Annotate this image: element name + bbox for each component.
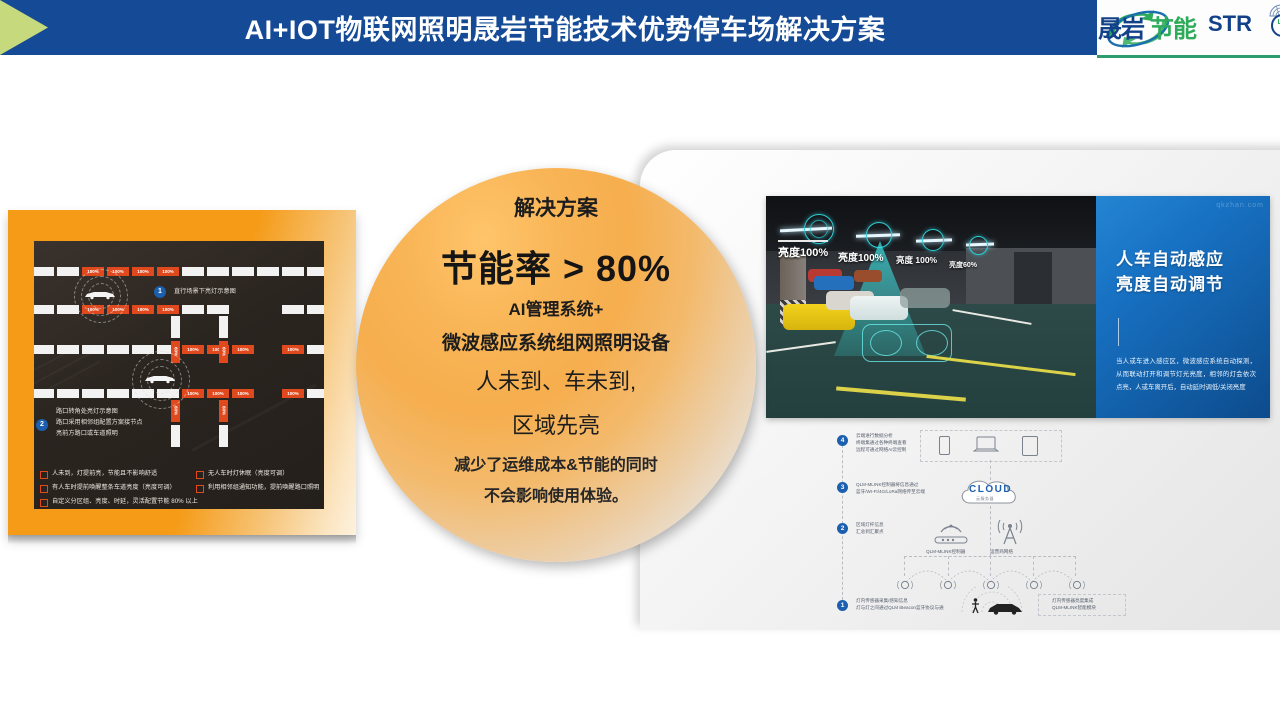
blue-caption-panel: qkzhan.com 人车自动感应 亮度自动调节 当人或车进入感应区，微波感应系… [1096, 196, 1270, 418]
legend-marker-icon [40, 471, 48, 479]
tower-label: 运营商网络 [990, 548, 1013, 556]
lamp-off [307, 345, 324, 354]
lamp-off [182, 267, 204, 276]
legend-label: 无人车时灯休眠（亮度可调） [208, 470, 288, 478]
phone-icon [939, 436, 950, 455]
car-blue [814, 276, 854, 290]
legend-label: 人未到，灯提前亮，节能且不影响舒适 [52, 470, 157, 478]
parking-photo-block: 亮度100% 亮度100% 亮度 100% 亮度60% qkzhan.com 人… [766, 196, 1270, 418]
brightness-tag-4: 亮度60% [949, 260, 977, 270]
note-text-2-line3: 亮前方路口或车道照明 [56, 429, 118, 439]
lamp-gap [257, 389, 279, 398]
lamp-off [34, 305, 54, 314]
lamp-on: 100% [132, 267, 154, 276]
lamp-on: 100% [232, 389, 254, 398]
step-4-line3: 远程可通过网络AI云控制 [856, 446, 906, 454]
solution-headline: 节能率 > 80% [356, 240, 756, 292]
solution-oval: 解决方案 节能率 > 80% AI管理系统+ 微波感应系统组网照明设备 人未到、… [356, 168, 756, 562]
lamp-on: 100% [157, 267, 179, 276]
legend-label: 利用相邻组通知功能，提前唤醒路口照明 [208, 484, 319, 492]
lamp-off [182, 305, 204, 314]
lamp-column-3: 60% [171, 400, 180, 447]
divider [1118, 318, 1119, 346]
solution-line-5: 减少了运维成本&节能的同时 [356, 451, 756, 475]
lamp-on: 100% [232, 345, 254, 354]
lamp-on: 100% [282, 389, 304, 398]
lamp-off [57, 345, 79, 354]
router-icon [932, 520, 970, 546]
logo-o-mark-text: LM [1274, 19, 1280, 26]
lamp-off [207, 267, 229, 276]
note-badge-2: 2 [36, 419, 48, 431]
lamp-row-1: 100%100%100%100% [34, 267, 324, 276]
car-icon [143, 373, 177, 384]
legend-item: 自定义分区组、亮度、时延，灵活配置节能 80% 以上 [40, 498, 198, 507]
lamp-off [82, 389, 104, 398]
lamp-off [57, 389, 79, 398]
lamp-on: 100% [282, 345, 304, 354]
lamp-on: 100% [132, 305, 154, 314]
legend-marker-icon [196, 485, 204, 493]
car-brown [854, 270, 882, 282]
logo-o-badge-icon: LM [1271, 14, 1280, 37]
lamp-column-2: 60% [219, 316, 228, 363]
blue-title-line1: 人车自动感应 [1116, 248, 1224, 273]
brand-logo: 晟岩 节能 STR LM NG ® 强流明照明 [1097, 0, 1280, 55]
brightness-tag-1: 亮度100% [778, 244, 828, 260]
legend-marker-icon [40, 499, 48, 507]
legend-item: 利用相邻组通知功能，提前唤醒路口照明 [196, 484, 319, 493]
cloud-label: CLOUD [969, 484, 1012, 495]
lamp-off [257, 267, 279, 276]
brightness-tag-3: 亮度 100% [896, 254, 937, 266]
lamp-off-vertical [219, 316, 228, 338]
car-icon [986, 601, 1024, 615]
blue-panel-body: 当人或车进入感应区，微波感应系统自动探测，从而联动打开和调节灯光亮度，相邻的灯会… [1116, 356, 1256, 394]
ghost-car-wheel [870, 330, 902, 356]
tablet-icon [1022, 436, 1038, 456]
device-note-line2: QLM-MLINK智能模块 [1052, 604, 1096, 612]
note-text-2-line2: 路口采用相邻组配置方案接节点 [56, 418, 143, 428]
legend-marker-icon [40, 485, 48, 493]
lamp-column-4: 60% [219, 400, 228, 447]
ghost-car-wheel [916, 330, 948, 356]
lamp-off-vertical [219, 425, 228, 447]
parking-photo: 亮度100% 亮度100% 亮度 100% 亮度60% [766, 196, 1096, 418]
legend-label: 自定义分区组、亮度、时延，灵活配置节能 80% 以上 [52, 498, 198, 506]
legend-item: 无人车时灯休眠（亮度可调） [196, 470, 288, 479]
solution-oval-content: 解决方案 节能率 > 80% AI管理系统+ 微波感应系统组网照明设备 人未到、… [356, 168, 756, 562]
lamp-off [107, 345, 129, 354]
logo-brand-en: STR [1208, 11, 1252, 37]
solution-line-2: 微波感应系统组网照明设备 [356, 328, 756, 355]
lamp-off-vertical [171, 425, 180, 447]
sensor-ring-icon [810, 220, 828, 238]
lamp-off [307, 305, 324, 314]
blue-title-line2: 亮度自动调节 [1116, 273, 1224, 298]
note-badge-1: 1 [154, 286, 166, 298]
lamp-on-vertical: 60% [219, 341, 228, 363]
page-header: AI+IOT物联网照明晟岩节能技术优势停车场解决方案 晟岩 节能 STR LM … [0, 0, 1280, 60]
step-1-line2: 灯与灯之间通过QLM iBeacon蓝牙协议与通 [856, 604, 944, 612]
note-text-1: 直行场景下亮灯示意图 [174, 287, 236, 297]
pedestrian-icon [970, 598, 981, 614]
tag-leader-line [778, 240, 828, 242]
lamp-on: 100% [157, 305, 179, 314]
solution-line-1: AI管理系统+ [356, 295, 756, 320]
sensor-ring-icon [922, 229, 944, 251]
legend-marker-icon [196, 471, 204, 479]
connector [990, 460, 991, 480]
lamp-node-icon [896, 578, 914, 591]
lamp-off [57, 267, 79, 276]
sensor-ring-icon [969, 236, 988, 255]
legend-item: 人未到，灯提前亮，节能且不影响舒适 [40, 470, 157, 479]
step-3-line2: 蓝牙/WI-FI/4G/LoRa网络传至云端 [856, 488, 925, 496]
step-badge-4: 4 [837, 435, 848, 446]
cell-tower-icon [994, 518, 1026, 546]
network-topology-diagram: 4 云端进行数据分析 终端集通过各种终端查看 远程可通过网络AI云控制 3 QL… [826, 426, 1246, 622]
header-underline [1097, 55, 1280, 58]
brightness-tag-2: 亮度100% [838, 249, 884, 264]
watermark: qkzhan.com [1216, 202, 1264, 209]
lamp-off-vertical [171, 316, 180, 338]
parking-lighting-diagram: 100%100%100%100% 100%100%100%100% 100%10… [34, 241, 324, 509]
lamp-on: 100% [207, 389, 229, 398]
router-label: QLM-MLINK控制器 [926, 548, 965, 556]
blue-panel-title: 人车自动感应 亮度自动调节 [1116, 248, 1224, 297]
car-icon [83, 289, 117, 300]
logo-wrap: 晟岩 节能 STR LM NG ® 强流明照明 [890, 0, 1280, 55]
lamp-off [34, 267, 54, 276]
solution-heading: 解决方案 [356, 192, 756, 222]
solution-line-4: 区域先亮 [356, 408, 756, 440]
lamp-gap [257, 345, 279, 354]
lamp-off [307, 267, 324, 276]
solution-line-6: 不会影响使用体验。 [356, 482, 756, 506]
logo-brand-cn-dark: 晟岩 [1098, 9, 1144, 44]
lamp-off [34, 345, 54, 354]
solution-line-3: 人未到、车未到, [356, 364, 756, 396]
lamp-gap [257, 305, 279, 314]
left-card-shadow [8, 535, 356, 544]
step-badge-3: 3 [837, 482, 848, 493]
lamp-off [82, 345, 104, 354]
lamp-off [107, 389, 129, 398]
laptop-icon [973, 436, 999, 453]
lamp-off [282, 305, 304, 314]
cloud-sublabel: 云服务器 [976, 496, 994, 502]
lamp-on-vertical: 60% [219, 400, 228, 422]
logo-brand-cn-green: 节能 [1150, 9, 1196, 44]
lamp-on: 100% [182, 345, 204, 354]
lamp-off [282, 267, 304, 276]
legend-label: 有人车时提前唤醒整条车道亮度（亮度可调） [52, 484, 176, 492]
lamp-off [207, 305, 229, 314]
step-badge-2: 2 [837, 523, 848, 534]
lamp-off [34, 389, 54, 398]
step-badge-1: 1 [837, 600, 848, 611]
lamp-off [232, 267, 254, 276]
lamp-gap [232, 305, 254, 314]
lamp-node-icon [1068, 578, 1086, 591]
connector [990, 506, 991, 556]
legend-item: 有人车时提前唤醒整条车道亮度（亮度可调） [40, 484, 176, 493]
lamp-off [307, 389, 324, 398]
note-text-2-line1: 路口转角处亮灯示意图 [56, 407, 118, 417]
car-ghost-rear [900, 288, 950, 308]
step-2-line2: 汇总到汇聚点 [856, 528, 884, 536]
